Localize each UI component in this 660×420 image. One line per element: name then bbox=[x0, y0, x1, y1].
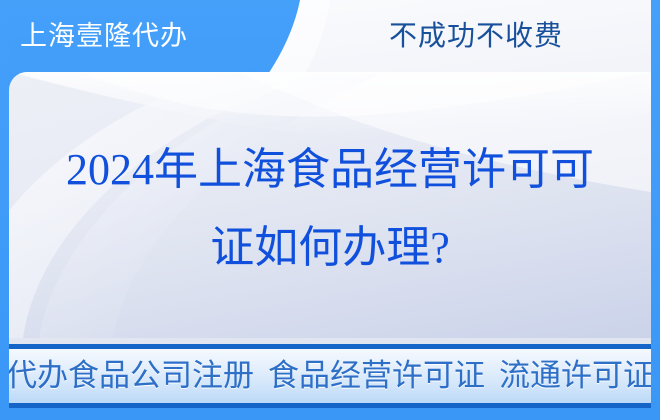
slogan-text: 不成功不收费 bbox=[389, 20, 563, 52]
keyword-footer-bar: 代办食品公司注册 食品经营许可证 流通许可证 bbox=[9, 344, 651, 408]
keyword-item-2[interactable]: 食品经营许可证 bbox=[268, 359, 485, 393]
main-card: 2024年上海食品经营许可可 证如何办理? bbox=[9, 72, 651, 338]
keyword-item-1[interactable]: 代办食品公司注册 bbox=[6, 359, 254, 393]
keyword-item-3[interactable]: 流通许可证 bbox=[499, 359, 654, 393]
title-line-2: 证如何办理? bbox=[210, 209, 450, 287]
left-edge-strip bbox=[0, 0, 9, 420]
poster-canvas: 上海壹隆代办 不成功不收费 bbox=[0, 0, 660, 420]
brand-name: 上海壹隆代办 bbox=[20, 21, 188, 51]
keyword-list: 代办食品公司注册 食品经营许可证 流通许可证 bbox=[6, 359, 654, 393]
right-edge-strip bbox=[651, 0, 660, 420]
title-line-1: 2024年上海食品经营许可可 bbox=[66, 131, 594, 209]
poster-header: 上海壹隆代办 不成功不收费 bbox=[0, 0, 660, 72]
title-block: 2024年上海食品经营许可可 证如何办理? bbox=[9, 72, 651, 338]
bottom-edge-strip bbox=[0, 408, 660, 420]
